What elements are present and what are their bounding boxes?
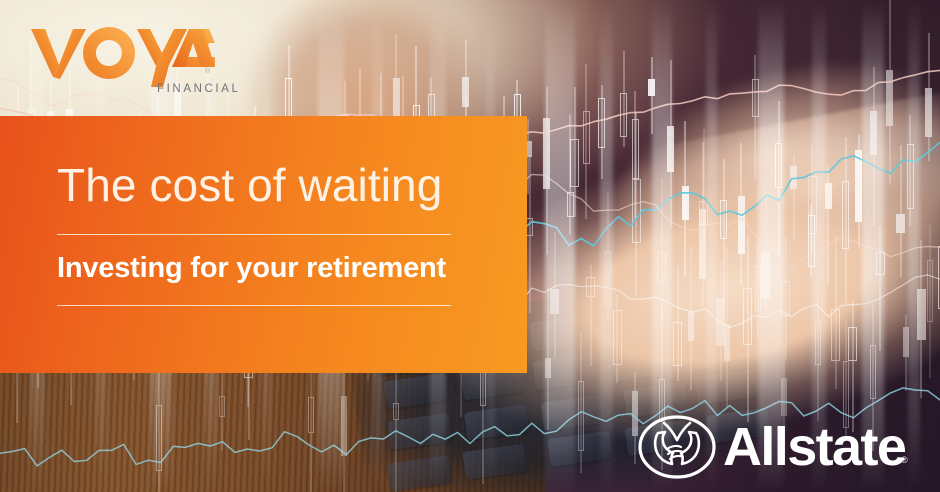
divider-bottom <box>57 305 451 306</box>
promo-banner: The cost of waiting Investing for your r… <box>0 0 940 492</box>
allstate-logo: Allstate ® <box>637 411 920 483</box>
voya-tagline: FINANCIAL <box>157 83 240 95</box>
panel-subhead: Investing for your retirement <box>57 254 487 283</box>
voya-wordmark-icon: ® <box>29 23 215 89</box>
light-streak <box>545 0 575 492</box>
allstate-registered-mark: ® <box>901 455 908 465</box>
svg-text:®: ® <box>205 67 211 75</box>
good-hands-icon <box>637 411 717 483</box>
panel-headline: The cost of waiting <box>57 162 487 208</box>
light-streak <box>600 0 613 492</box>
voya-logo: ® FINANCIAL <box>29 23 215 89</box>
divider-top <box>57 234 451 235</box>
headline-panel: The cost of waiting Investing for your r… <box>0 116 527 373</box>
allstate-wordmark: Allstate <box>723 417 905 477</box>
